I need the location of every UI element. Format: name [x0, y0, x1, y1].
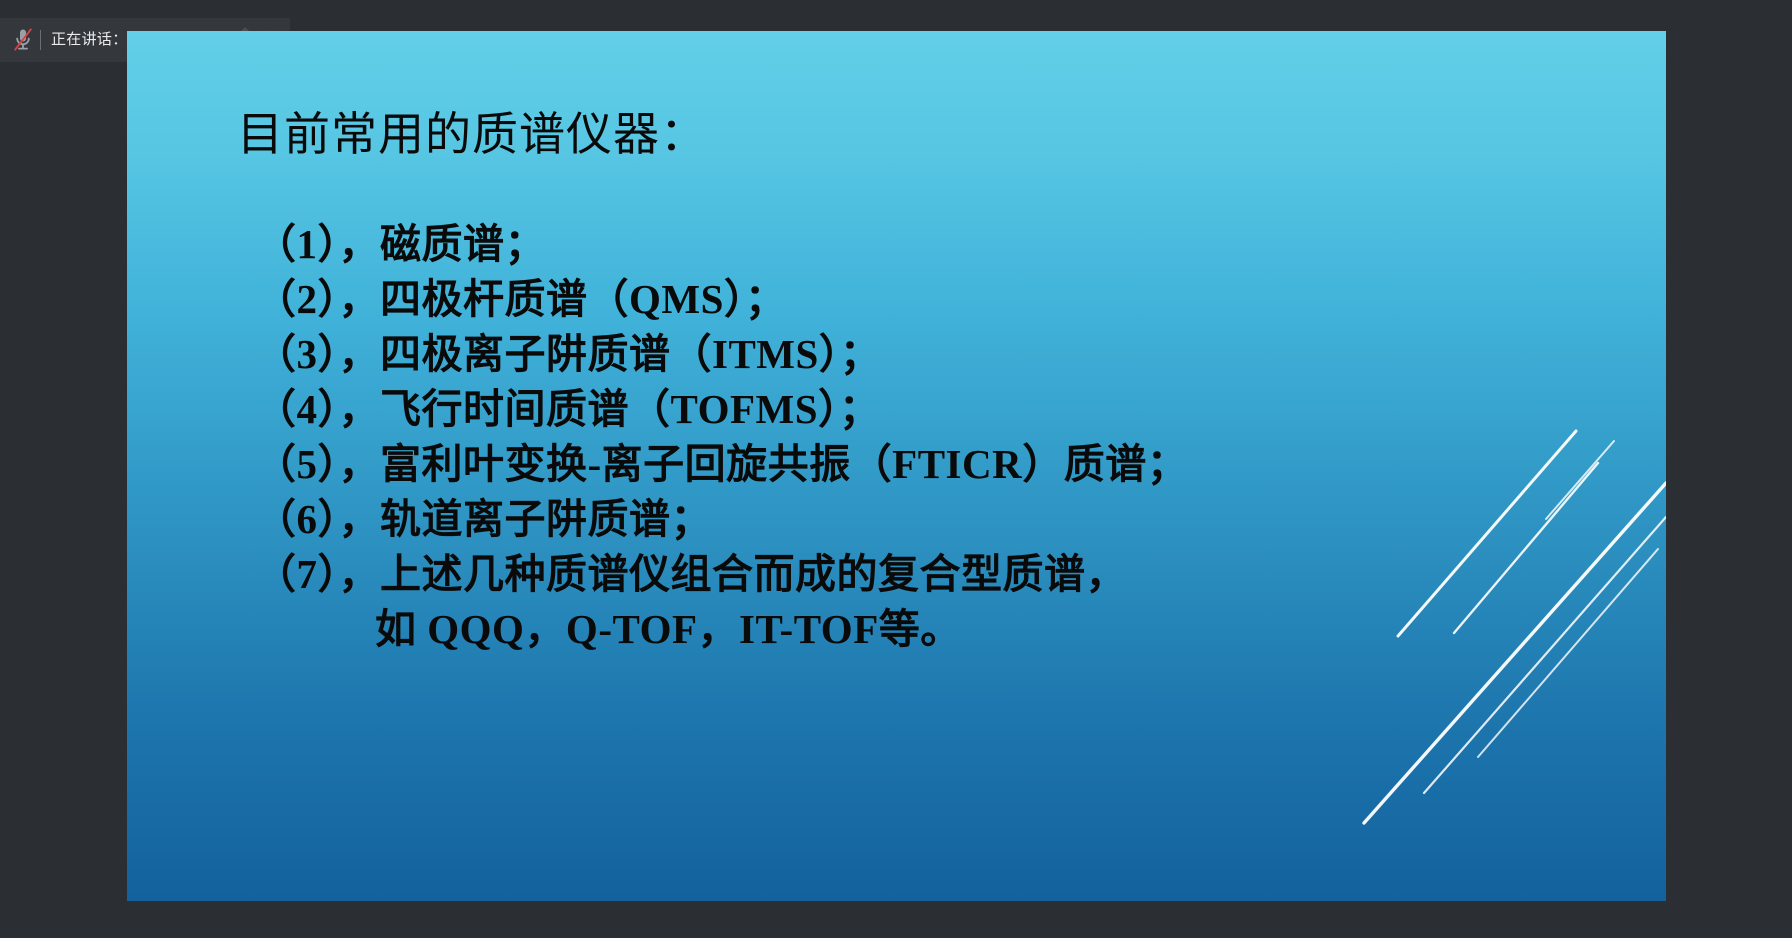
slide-list-item: （4），飞行时间质谱（TOFMS）； [255, 382, 1585, 437]
slide-list-item: （2），四极杆质谱（QMS）； [255, 272, 1585, 327]
slide-body-list: （1），磁质谱； （2），四极杆质谱（QMS）； （3），四极离子阱质谱（ITM… [255, 217, 1585, 657]
slide-list-item: （3），四极离子阱质谱（ITMS）； [255, 327, 1585, 382]
slide-list-item: （1），磁质谱； [255, 217, 1585, 272]
presentation-slide: 目前常用的质谱仪器： （1），磁质谱； （2），四极杆质谱（QMS）； （3），… [127, 31, 1666, 901]
slide-list-item: （5），富利叶变换-离子回旋共振（FTICR）质谱； [255, 437, 1585, 492]
screen-root: 正在讲话：丁传凡; [0, 0, 1792, 938]
toolbar-divider [40, 30, 41, 50]
slide-list-item-continuation: 如 QQQ，Q-TOF，IT-TOF等。 [255, 602, 1585, 657]
slide-list-item: （7），上述几种质谱仪组合而成的复合型质谱， [255, 547, 1585, 602]
slide-list-item: （6），轨道离子阱质谱； [255, 492, 1585, 547]
slide-title: 目前常用的质谱仪器： [237, 109, 707, 160]
microphone-muted-icon[interactable] [6, 18, 40, 62]
